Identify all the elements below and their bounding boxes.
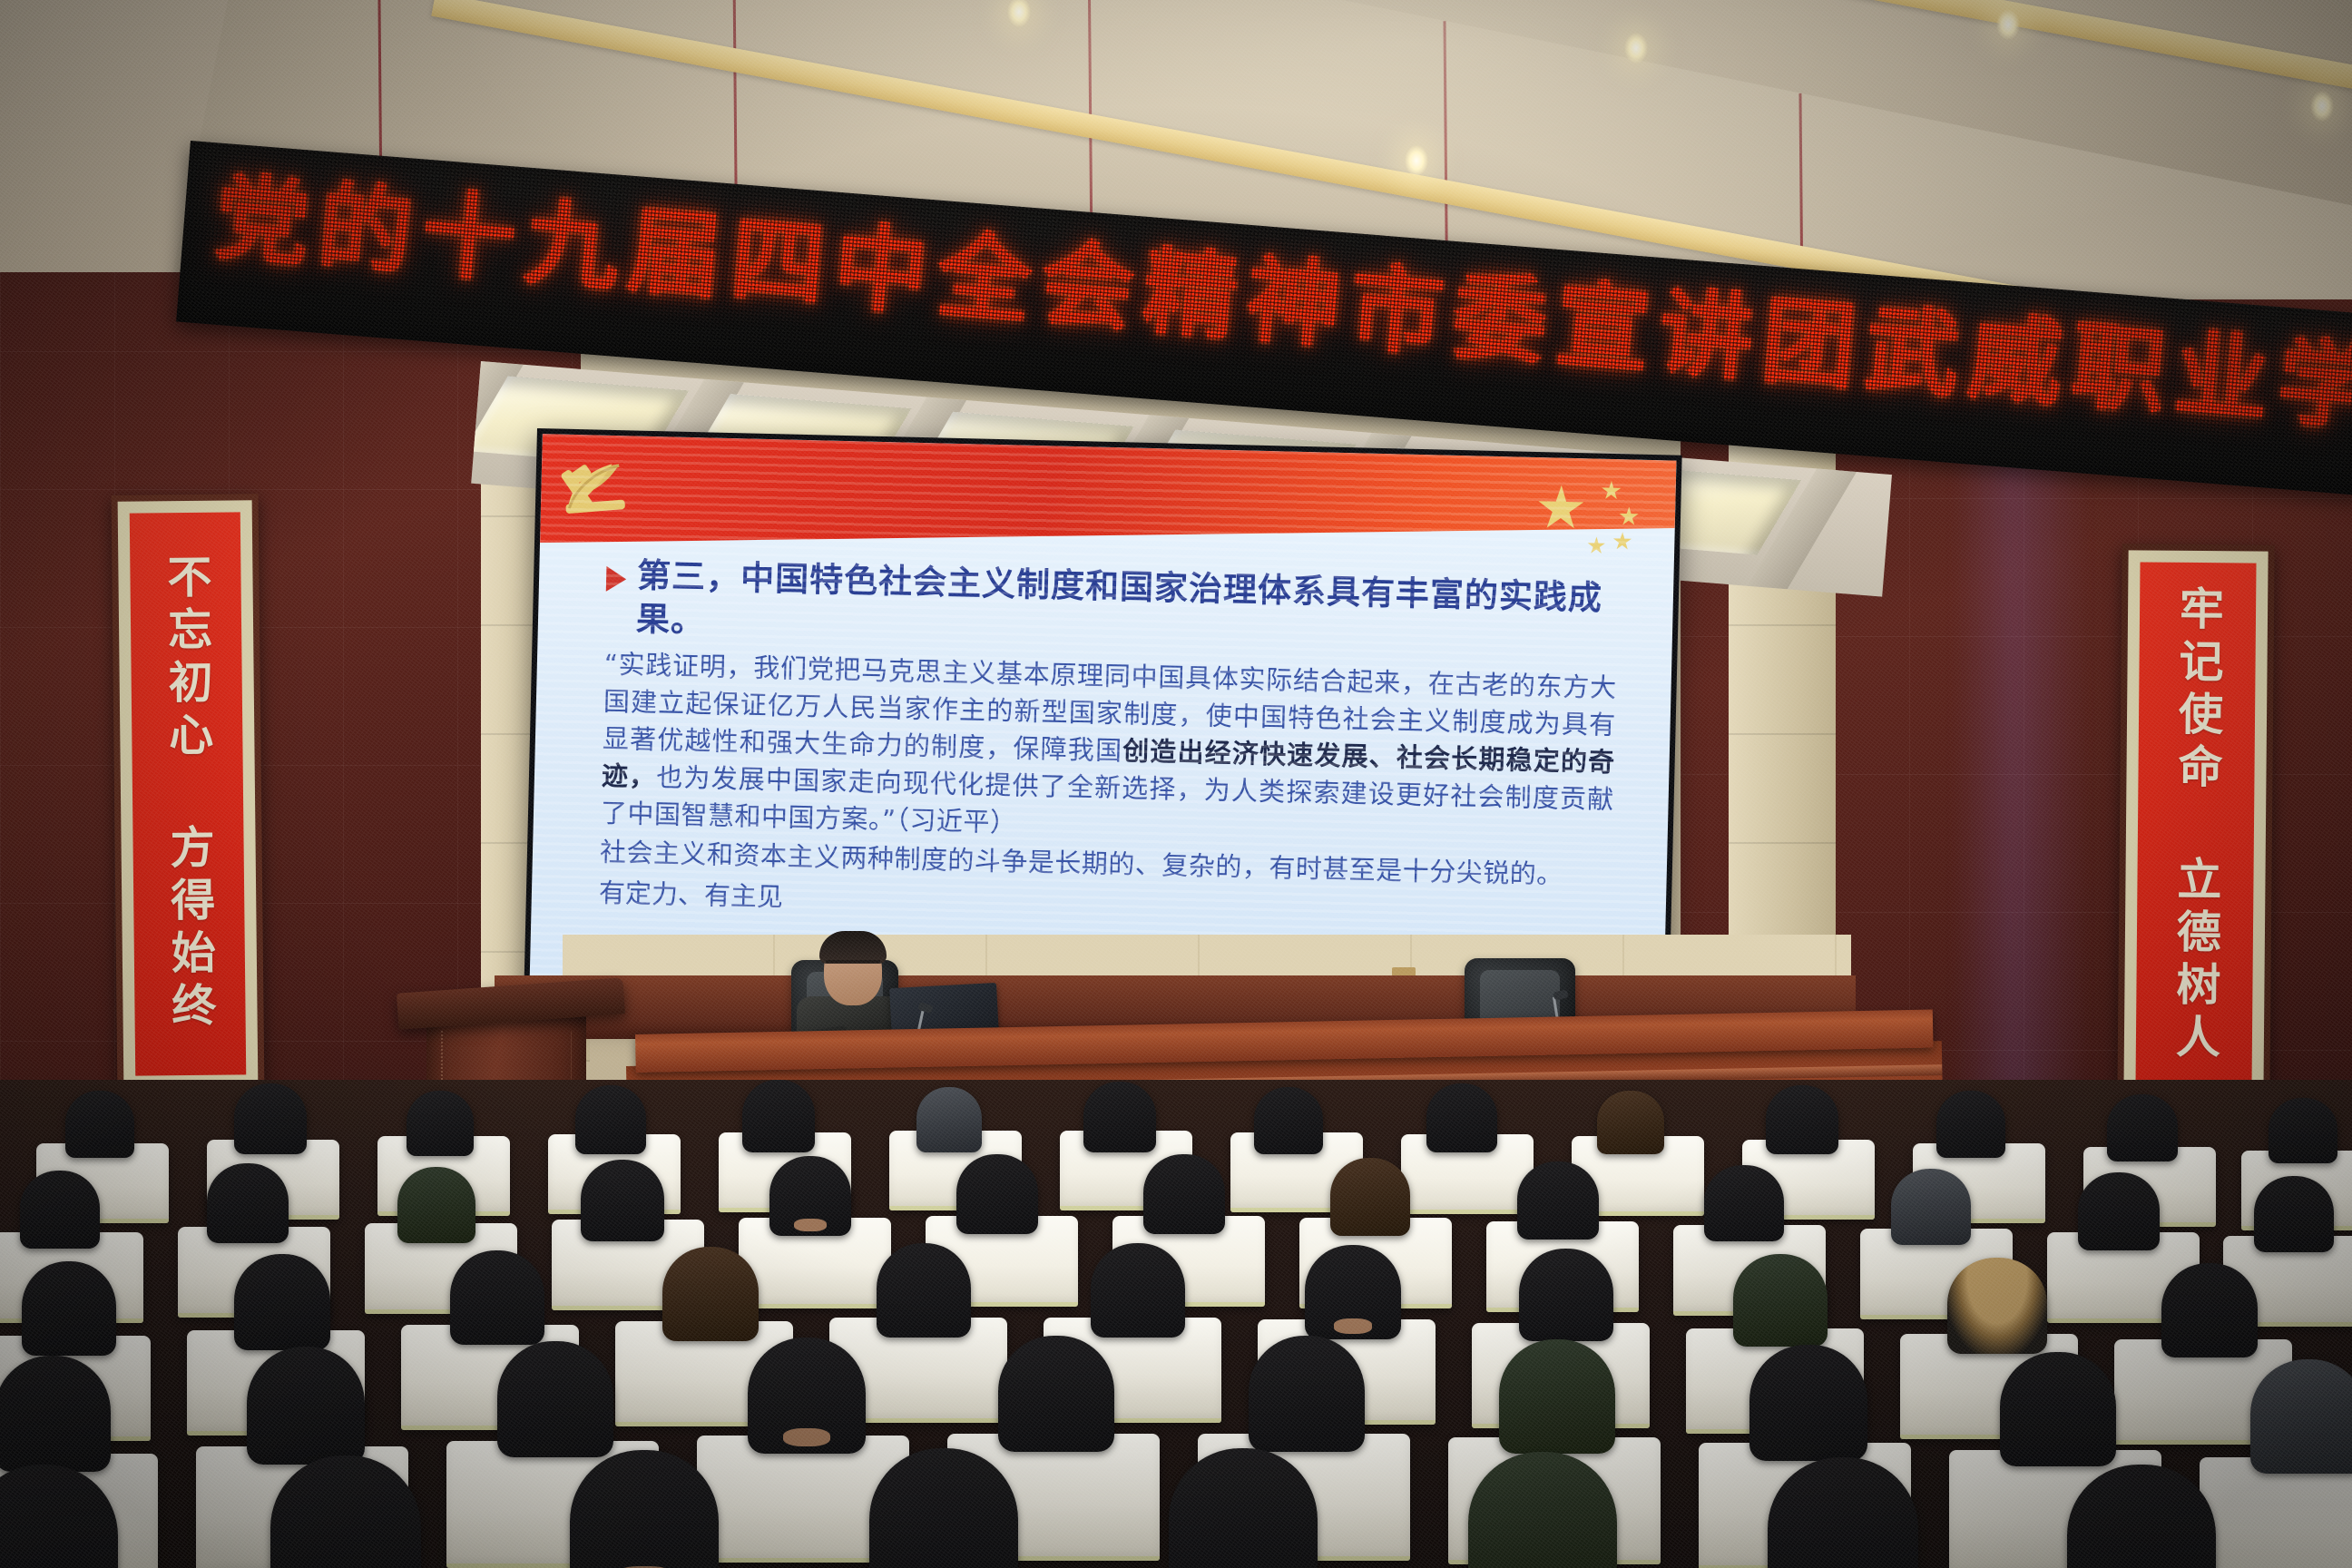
- presenter-glasses: [826, 960, 880, 971]
- audience-chair: [2200, 1457, 2352, 1568]
- audience-member: [769, 1156, 851, 1236]
- audience-member: [1305, 1245, 1401, 1339]
- audience-member: [748, 1338, 866, 1454]
- triangle-bullet-icon: [606, 566, 627, 593]
- audience-member: [1330, 1158, 1410, 1236]
- audience-member: [1947, 1258, 2047, 1354]
- wall-banner-right-text: 牢记使命 立德树人: [2170, 585, 2223, 1066]
- audience-member: [2000, 1352, 2116, 1466]
- hammer-and-sickle-icon: [556, 447, 645, 536]
- flag-star-small: [1619, 506, 1640, 527]
- audience-member: [1517, 1161, 1599, 1240]
- audience-member: [1091, 1243, 1185, 1338]
- audience-member: [916, 1087, 982, 1152]
- wall-banner-left-mat: 不忘初心 方得始终: [118, 500, 259, 1088]
- audience-member: [234, 1083, 307, 1154]
- ceiling-downlight: [1405, 145, 1428, 176]
- flag-star-small: [1587, 536, 1605, 554]
- audience-member: [2269, 1098, 2337, 1163]
- audience-member: [407, 1091, 474, 1156]
- flag-star-small: [1601, 481, 1622, 502]
- audience-member: [0, 1356, 111, 1472]
- audience-member: [22, 1261, 116, 1356]
- audience-member: [575, 1085, 646, 1154]
- audience-member: [1249, 1336, 1365, 1452]
- audience-member: [1749, 1345, 1867, 1461]
- flag-star-large: [1537, 485, 1585, 533]
- audience-member: [450, 1250, 544, 1345]
- audience-member: [1936, 1091, 2005, 1158]
- audience-member: [877, 1243, 971, 1338]
- flag-star-small: [1612, 532, 1632, 551]
- audience-member: [2161, 1263, 2258, 1357]
- audience-member: [20, 1171, 100, 1249]
- audience-member: [1083, 1082, 1156, 1152]
- audience-member: [662, 1247, 759, 1341]
- audience-area: [0, 1080, 2352, 1568]
- audience-member: [581, 1160, 664, 1241]
- ceiling-downlight: [1624, 33, 1648, 64]
- audience-member: [207, 1163, 289, 1243]
- wall-banner-right-frame: 牢记使命 立德树人: [2117, 544, 2274, 1107]
- wall-banner-left: 不忘初心 方得始终: [130, 512, 246, 1075]
- china-flag-stars-icon: [1505, 473, 1652, 554]
- audience-member: [1704, 1165, 1784, 1241]
- ceiling-downlight: [2310, 91, 2334, 122]
- audience-member: [247, 1347, 365, 1465]
- audience-member: [1254, 1087, 1323, 1154]
- wall-banner-right: 牢记使命 立德树人: [2135, 562, 2256, 1089]
- audience-member: [1766, 1085, 1838, 1154]
- auditorium-scene: 党的十九届四中全会精神市委宣讲团武威职业学院宣讲报告会 不忘初心 方得始终 牢记…: [0, 0, 2352, 1568]
- slide-quote-paragraph: “实践证明，我们党把马克思主义基本原理同中国具体实际结合起来，在古老的东方大国建…: [601, 646, 1618, 856]
- audience-member: [497, 1341, 613, 1457]
- wall-banner-right-mat: 牢记使命 立德树人: [2123, 550, 2268, 1101]
- audience-member: [1597, 1091, 1664, 1154]
- audience-member: [1891, 1169, 1971, 1245]
- wall-banner-left-frame: 不忘初心 方得始终: [112, 494, 265, 1094]
- audience-member: [1733, 1254, 1828, 1347]
- audience-member: [1499, 1339, 1615, 1454]
- audience-member: [397, 1167, 475, 1243]
- audience-member: [742, 1080, 815, 1152]
- slide-body: 第三，中国特色社会主义制度和国家治理体系具有丰富的实践成果。 “实践证明，我们党…: [599, 554, 1620, 935]
- audience-member: [65, 1091, 134, 1158]
- presenter-hair: [819, 931, 887, 964]
- audience-member: [1519, 1249, 1613, 1341]
- audience-member: [2107, 1094, 2178, 1161]
- ceiling-downlight: [1996, 9, 2020, 40]
- audience-member: [1426, 1083, 1497, 1152]
- audience-member: [2078, 1172, 2160, 1250]
- audience-member: [234, 1254, 330, 1350]
- slide-headline-row: 第三，中国特色社会主义制度和国家治理体系具有丰富的实践成果。: [605, 554, 1620, 664]
- audience-member: [998, 1336, 1114, 1452]
- audience-member: [956, 1154, 1038, 1234]
- wall-banner-left-text: 不忘初心 方得始终: [161, 554, 214, 1035]
- audience-member: [2250, 1359, 2352, 1474]
- audience-member: [2254, 1176, 2334, 1252]
- audience-member: [1143, 1154, 1225, 1234]
- slide-headline: 第三，中国特色社会主义制度和国家治理体系具有丰富的实践成果。: [635, 554, 1619, 665]
